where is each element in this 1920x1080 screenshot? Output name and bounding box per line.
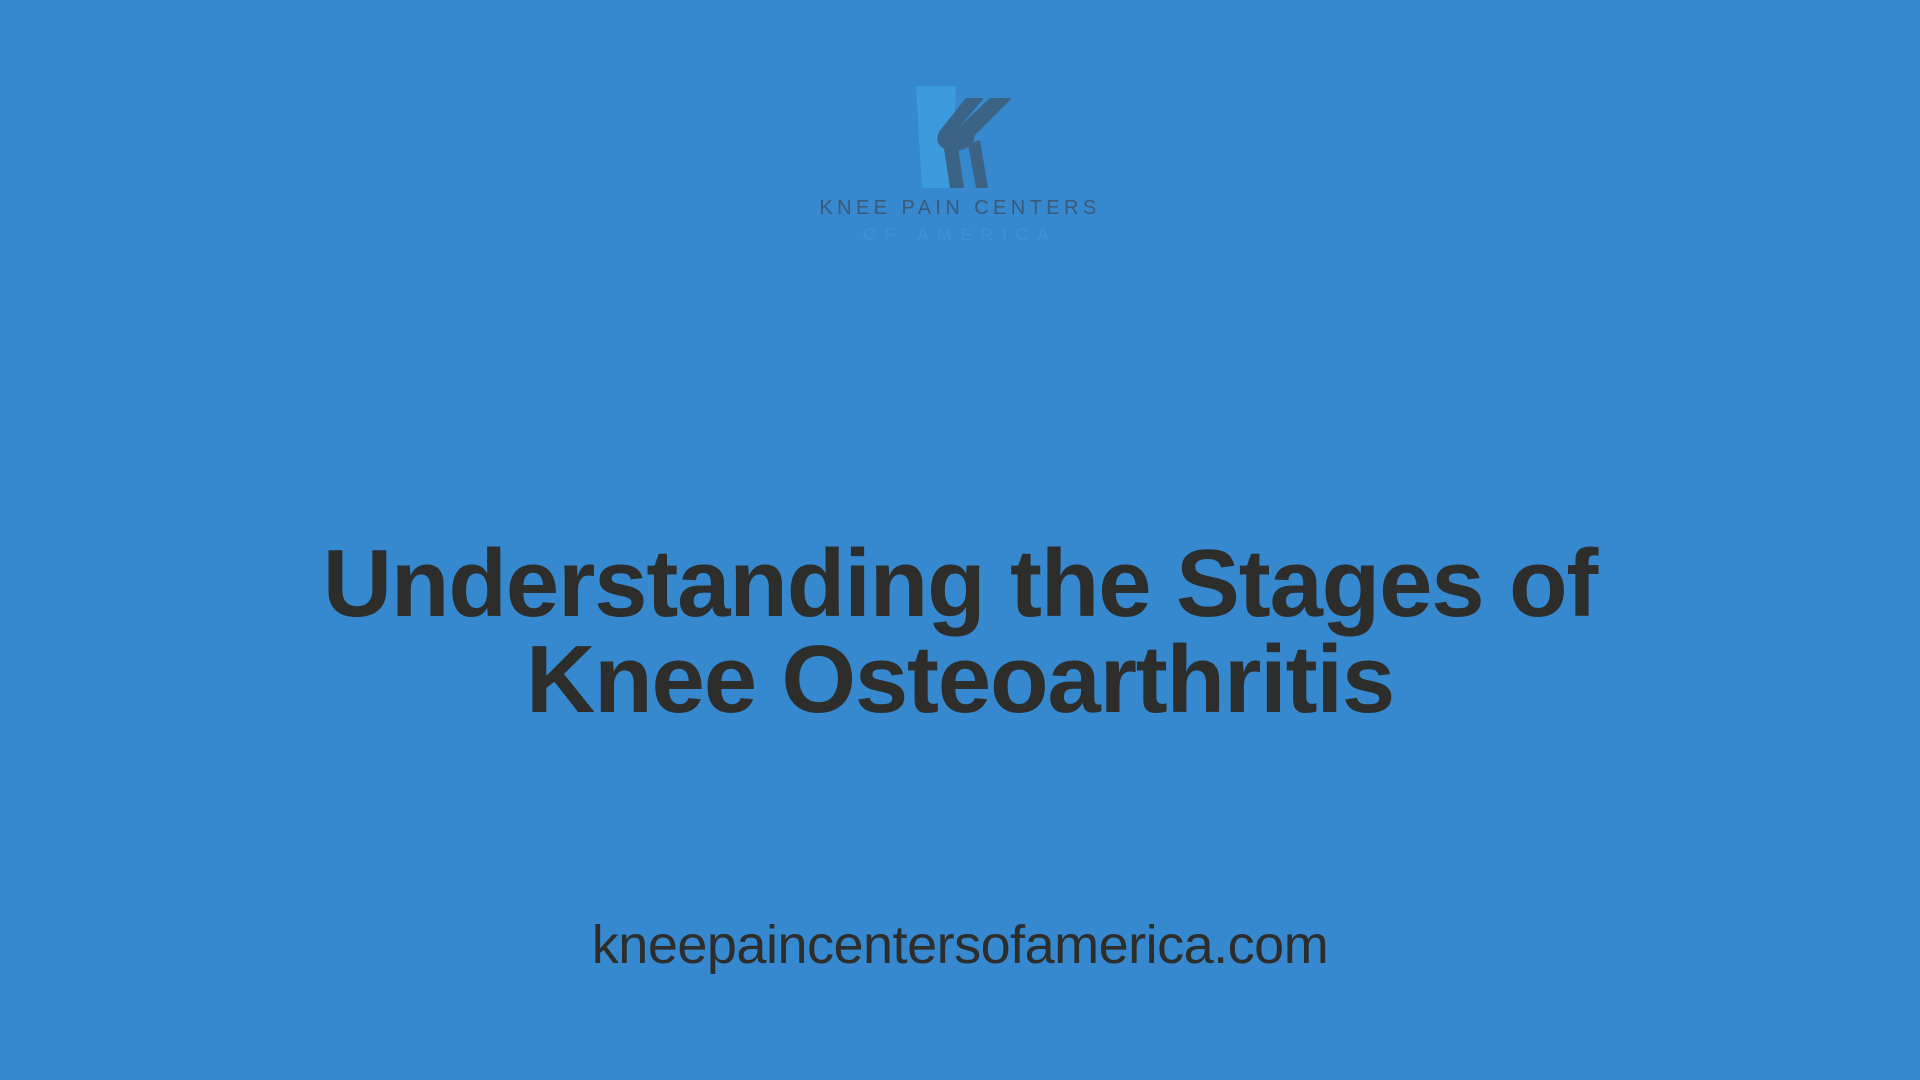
page-title-line-2: Knee Osteoarthritis: [210, 632, 1710, 728]
title-slide: KNEE PAIN CENTERS OF AMERICA Understandi…: [0, 0, 1920, 1080]
logo-subwordmark: OF AMERICA: [863, 226, 1058, 243]
website-url[interactable]: kneepaincentersofamerica.com: [592, 916, 1328, 975]
brand-logo: KNEE PAIN CENTERS OF AMERICA: [0, 78, 1920, 243]
knee-joint-k-logo-icon: [894, 78, 1026, 196]
logo-wordmark: KNEE PAIN CENTERS: [819, 198, 1100, 218]
page-title: Understanding the Stages of Knee Osteoar…: [210, 536, 1710, 728]
page-title-line-1: Understanding the Stages of: [210, 536, 1710, 632]
